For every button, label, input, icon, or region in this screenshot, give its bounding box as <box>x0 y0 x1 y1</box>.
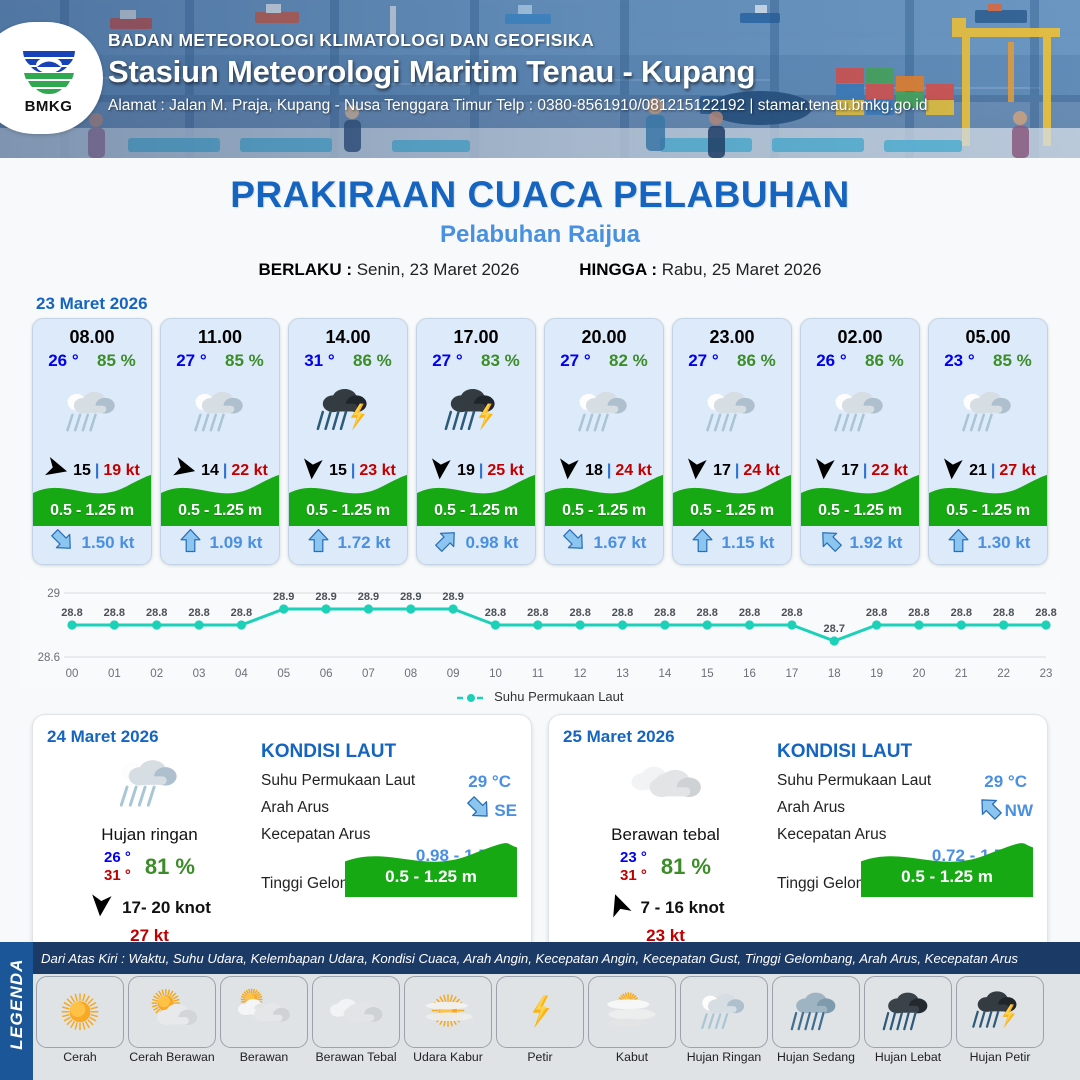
card-temp-hum: 27 °85 % <box>161 351 279 371</box>
current-direction-arrow-icon <box>178 528 203 553</box>
chart-xtick: 08 <box>404 668 417 680</box>
station-name: Stasiun Meteorologi Maritim Tenau - Kupa… <box>108 54 927 90</box>
card-current-row: 1.09 kt <box>161 528 279 558</box>
card-temp-hum: 26 °85 % <box>33 351 151 371</box>
daily-wind-arrow-slot <box>88 892 114 923</box>
legend-icon-box <box>496 976 584 1048</box>
daily-wind-speed: 17- 20 knot <box>122 898 211 918</box>
sst-point-label: 28.7 <box>824 623 845 635</box>
moderate-rain-icon <box>785 987 847 1038</box>
sst-point-label: 28.8 <box>993 607 1014 619</box>
fog-icon <box>601 987 663 1038</box>
card-time: 05.00 <box>929 327 1047 348</box>
card-humidity: 86 % <box>737 351 776 371</box>
agency-name: BADAN METEOROLOGI KLIMATOLOGI DAN GEOFIS… <box>108 30 927 51</box>
daily-wind-row: 7 - 16 knot <box>563 892 768 923</box>
daily-current-arrow-slot <box>466 795 492 826</box>
title-block: PRAKIRAAN CUACA PELABUHAN Pelabuhan Raij… <box>0 174 1080 280</box>
legend-item: Cerah <box>36 976 124 1064</box>
cloudy-icon <box>233 987 295 1038</box>
daily-forecast-panels: 24 Maret 2026Hujan ringan26 °31 °81 %17-… <box>0 704 1080 959</box>
chart-xtick: 21 <box>955 668 968 680</box>
daily-temp-min: 26 ° <box>104 849 131 866</box>
legend-note: Dari Atas Kiri : Waktu, Suhu Udara, Kele… <box>41 951 1018 966</box>
sst-point <box>67 620 76 629</box>
legend-icon-box <box>404 976 492 1048</box>
sst-point <box>787 620 796 629</box>
sst-point-label: 28.8 <box>104 607 125 619</box>
sst-point <box>830 636 839 645</box>
card-current-speed: 1.15 kt <box>722 533 775 553</box>
sst-chart: 2928.628.80028.80128.80228.80328.80428.9… <box>20 579 1060 687</box>
card-current-row: 0.98 kt <box>417 528 535 558</box>
chart-xtick: 07 <box>362 668 375 680</box>
light-rain-icon <box>693 987 755 1038</box>
chart-xtick: 22 <box>997 668 1010 680</box>
hourly-card[interactable]: 14.0031 °86 %15|23 kt0.5 - 1.25 m1.72 kt <box>288 318 408 565</box>
hourly-card[interactable]: 02.0026 °86 %17|22 kt0.5 - 1.25 m1.92 kt <box>800 318 920 565</box>
card-current-arrow-slot <box>306 528 331 558</box>
sst-point-label: 28.8 <box>188 607 209 619</box>
sst-point <box>999 620 1008 629</box>
chart-xtick: 12 <box>574 668 587 680</box>
daily-left-column: Berawan tebal23 °31 °81 %7 - 16 knot23 k… <box>563 751 768 946</box>
sst-point <box>914 620 923 629</box>
sst-point <box>194 620 203 629</box>
light-rain-icon <box>569 384 639 441</box>
sst-point-label: 28.8 <box>951 607 972 619</box>
daily-current-arrow-slot <box>977 795 1003 826</box>
legend-icon-box <box>588 976 676 1048</box>
card-time: 14.00 <box>289 327 407 348</box>
card-humidity: 86 % <box>865 351 904 371</box>
chart-xtick: 20 <box>913 668 926 680</box>
light-rain-icon <box>57 384 127 441</box>
station-address: Alamat : Jalan M. Praja, Kupang - Nusa T… <box>108 97 927 115</box>
card-weather-icon-slot <box>545 374 663 452</box>
sst-chart-svg: 2928.628.80028.80128.80228.80328.80428.9… <box>20 579 1060 687</box>
daily-wind-speed: 7 - 16 knot <box>640 898 724 918</box>
card-temperature: 26 ° <box>816 351 846 371</box>
legend-item: Kabut <box>588 976 676 1064</box>
chart-xtick: 14 <box>658 668 671 680</box>
wave-height-row: Tinggi Gelombang0.5 - 1.25 m <box>777 875 1033 893</box>
hourly-card[interactable]: 17.0027 °83 %19|25 kt0.5 - 1.25 m0.98 kt <box>416 318 536 565</box>
legend-item-label: Berawan <box>220 1050 308 1064</box>
weather-infographic: BMKG BADAN METEOROLOGI KLIMATOLOGI DAN G… <box>0 0 1080 1080</box>
sea-conditions-title: KONDISI LAUT <box>261 741 517 763</box>
legend-item: Hujan Lebat <box>864 976 952 1064</box>
daily-wind-arrow-slot <box>606 892 632 923</box>
wind-direction-arrow-icon <box>606 892 632 918</box>
sea-conditions-title: KONDISI LAUT <box>777 741 1033 763</box>
current-direction-arrow-icon <box>434 528 459 553</box>
card-time: 08.00 <box>33 327 151 348</box>
sst-point-label: 28.8 <box>866 607 887 619</box>
legend-icon-box <box>36 976 124 1048</box>
card-wave-height: 0.5 - 1.25 m <box>417 502 535 520</box>
daily-weather-icon-slot <box>47 751 252 823</box>
daily-left-column: Hujan ringan26 °31 °81 %17- 20 knot27 kt <box>47 751 252 946</box>
card-wave-height: 0.5 - 1.25 m <box>33 502 151 520</box>
card-weather-icon-slot <box>161 374 279 452</box>
card-weather-icon-slot <box>673 374 791 452</box>
sst-point <box>660 620 669 629</box>
daily-panel: 25 Maret 2026Berawan tebal23 °31 °81 %7 … <box>548 714 1048 959</box>
legend-icon-box <box>312 976 400 1048</box>
sst-point <box>406 604 415 613</box>
card-humidity: 86 % <box>353 351 392 371</box>
sunny-icon <box>49 987 111 1038</box>
card-current-row: 1.67 kt <box>545 528 663 558</box>
current-direction-arrow-icon <box>50 528 75 553</box>
card-temperature: 31 ° <box>304 351 334 371</box>
legend-icon-box <box>772 976 860 1048</box>
valid-to: HINGGA : Rabu, 25 Maret 2026 <box>579 260 821 280</box>
daily-wave-height-value: 0.5 - 1.25 m <box>861 867 1033 887</box>
card-current-arrow-slot <box>690 528 715 558</box>
card-time: 20.00 <box>545 327 663 348</box>
card-temp-hum: 31 °86 % <box>289 351 407 371</box>
hourly-card[interactable]: 05.0023 °85 %21|27 kt0.5 - 1.25 m1.30 kt <box>928 318 1048 565</box>
card-temp-hum: 26 °86 % <box>801 351 919 371</box>
thunderstorm-rain-icon <box>313 384 383 441</box>
sst-row: Suhu Permukaan Laut29 °C <box>261 772 517 790</box>
card-current-row: 1.72 kt <box>289 528 407 558</box>
card-temp-hum: 23 °85 % <box>929 351 1047 371</box>
chart-legend-label: Suhu Permukaan Laut <box>494 689 623 704</box>
sst-point <box>279 604 288 613</box>
current-direction-row: Arah ArusNW <box>777 799 1033 817</box>
sst-point-label: 28.8 <box>654 607 675 619</box>
legend-icon-row: CerahCerah BerawanBerawanBerawan TebalUd… <box>36 976 1076 1064</box>
chart-xtick: 00 <box>66 668 79 680</box>
legend-item: Hujan Sedang <box>772 976 860 1064</box>
wave-height-row: Tinggi Gelombang0.5 - 1.25 m <box>261 875 517 893</box>
current-direction-row: Arah ArusSE <box>261 799 517 817</box>
chart-xtick: 04 <box>235 668 248 680</box>
card-current-arrow-slot <box>434 528 459 558</box>
card-current-speed: 1.72 kt <box>338 533 391 553</box>
chart-xtick: 16 <box>743 668 756 680</box>
card-temperature: 27 ° <box>688 351 718 371</box>
daily-humidity: 81 % <box>145 854 195 880</box>
sst-value: 29 °C <box>468 772 511 792</box>
legend-item-label: Hujan Petir <box>956 1050 1044 1064</box>
card-current-row: 1.15 kt <box>673 528 791 558</box>
sst-point <box>957 620 966 629</box>
card-temp-hum: 27 °83 % <box>417 351 535 371</box>
legenda-label: LEGENDA <box>7 949 27 1059</box>
card-weather-icon-slot <box>417 374 535 452</box>
sst-point-label: 28.9 <box>442 591 463 603</box>
legenda-sidebar: LEGENDA <box>0 942 33 1080</box>
card-current-arrow-slot <box>818 528 843 558</box>
legend-item: Hujan Ringan <box>680 976 768 1064</box>
thunderstorm-rain-icon <box>441 384 511 441</box>
daily-sea-conditions: KONDISI LAUTSuhu Permukaan Laut29 °CArah… <box>777 741 1033 893</box>
daily-panel: 24 Maret 2026Hujan ringan26 °31 °81 %17-… <box>32 714 532 959</box>
wind-direction-arrow-icon <box>88 892 114 918</box>
current-direction-value-group: NW <box>977 795 1033 826</box>
overcast-icon <box>325 987 387 1038</box>
sst-point <box>872 620 881 629</box>
legend-item-label: Cerah <box>36 1050 124 1064</box>
light-rain-icon <box>109 751 191 818</box>
haze-icon <box>417 987 479 1038</box>
valid-from: BERLAKU : Senin, 23 Maret 2026 <box>258 260 519 280</box>
chart-xtick: 10 <box>489 668 502 680</box>
sst-point-label: 28.9 <box>400 591 421 603</box>
sst-row: Suhu Permukaan Laut29 °C <box>777 772 1033 790</box>
card-temperature: 23 ° <box>944 351 974 371</box>
legend-icon-box <box>220 976 308 1048</box>
card-current-speed: 1.92 kt <box>850 533 903 553</box>
sst-point-label: 28.8 <box>61 607 82 619</box>
partly-cloudy-icon <box>141 987 203 1038</box>
bmkg-logo-icon <box>17 41 81 97</box>
legend-item-label: Petir <box>496 1050 584 1064</box>
legend-item-label: Udara Kabur <box>404 1050 492 1064</box>
sst-point-label: 28.9 <box>358 591 379 603</box>
sst-point-label: 28.8 <box>485 607 506 619</box>
card-weather-icon-slot <box>289 374 407 452</box>
lightning-icon <box>509 987 571 1038</box>
daily-condition: Hujan ringan <box>47 825 252 845</box>
daily-temp-column: 23 °31 ° <box>620 849 647 884</box>
hourly-forecast-row: 08.0026 °85 %15|19 kt0.5 - 1.25 m1.50 kt… <box>0 318 1080 565</box>
chart-xtick: 15 <box>701 668 714 680</box>
valid-to-label: HINGGA : <box>579 260 657 279</box>
light-rain-icon <box>825 384 895 441</box>
card-current-arrow-slot <box>562 528 587 558</box>
card-current-arrow-slot <box>50 528 75 558</box>
legend-icon-box <box>128 976 216 1048</box>
current-direction-arrow-icon <box>818 528 843 553</box>
current-direction-label: Arah Arus <box>261 799 329 816</box>
card-temp-hum: 27 °82 % <box>545 351 663 371</box>
card-temp-hum: 27 °86 % <box>673 351 791 371</box>
sst-point <box>321 604 330 613</box>
sst-point-label: 28.8 <box>569 607 590 619</box>
hourly-card[interactable]: 20.0027 °82 %18|24 kt0.5 - 1.25 m1.67 kt <box>544 318 664 565</box>
card-wave-height: 0.5 - 1.25 m <box>289 502 407 520</box>
daily-temp-min: 23 ° <box>620 849 647 866</box>
sst-point-label: 28.8 <box>781 607 802 619</box>
legend-item: Berawan <box>220 976 308 1064</box>
legend-item-label: Cerah Berawan <box>128 1050 216 1064</box>
card-weather-icon-slot <box>33 374 151 452</box>
chart-xtick: 02 <box>150 668 163 680</box>
card-wave-height: 0.5 - 1.25 m <box>161 502 279 520</box>
current-direction-label: Arah Arus <box>777 799 845 816</box>
card-current-speed: 1.50 kt <box>82 533 135 553</box>
current-direction-value: NW <box>1005 801 1033 821</box>
card-time: 23.00 <box>673 327 791 348</box>
light-rain-icon <box>697 384 767 441</box>
chart-xtick: 09 <box>447 668 460 680</box>
chart-xtick: 17 <box>786 668 799 680</box>
header-text-block: BADAN METEOROLOGI KLIMATOLOGI DAN GEOFIS… <box>108 30 927 115</box>
current-direction-arrow-icon <box>466 795 492 821</box>
legend-item: Hujan Petir <box>956 976 1044 1064</box>
current-direction-value-group: SE <box>466 795 517 826</box>
sst-point-label: 28.8 <box>1035 607 1056 619</box>
chart-ytick: 29 <box>47 588 60 600</box>
legend-item-label: Hujan Lebat <box>864 1050 952 1064</box>
sst-point <box>449 604 458 613</box>
page-title: PRAKIRAAN CUACA PELABUHAN <box>0 174 1080 216</box>
daily-temp-hum: 23 °31 °81 % <box>563 849 768 884</box>
sst-label: Suhu Permukaan Laut <box>777 772 931 789</box>
sst-point-label: 28.8 <box>697 607 718 619</box>
card-weather-icon-slot <box>801 374 919 452</box>
card-temperature: 27 ° <box>560 351 590 371</box>
chart-xtick: 05 <box>277 668 290 680</box>
card-wave-height: 0.5 - 1.25 m <box>545 502 663 520</box>
card-wave-height: 0.5 - 1.25 m <box>801 502 919 520</box>
card-humidity: 83 % <box>481 351 520 371</box>
chart-xtick: 23 <box>1040 668 1053 680</box>
sst-point <box>745 620 754 629</box>
sst-point-label: 28.9 <box>315 591 336 603</box>
chart-xtick: 03 <box>193 668 206 680</box>
card-humidity: 82 % <box>609 351 648 371</box>
sst-point <box>237 620 246 629</box>
sst-point-label: 28.8 <box>527 607 548 619</box>
current-direction-arrow-icon <box>562 528 587 553</box>
card-temperature: 26 ° <box>48 351 78 371</box>
chart-xtick: 11 <box>532 668 544 680</box>
legend-icon-box <box>864 976 952 1048</box>
heavy-rain-icon <box>877 987 939 1038</box>
sst-point <box>152 620 161 629</box>
daily-sea-conditions: KONDISI LAUTSuhu Permukaan Laut29 °CArah… <box>261 741 517 893</box>
chart-xtick: 13 <box>616 668 629 680</box>
card-current-speed: 0.98 kt <box>466 533 519 553</box>
sst-point <box>703 620 712 629</box>
daily-wave-height-value: 0.5 - 1.25 m <box>345 867 517 887</box>
card-temperature: 27 ° <box>432 351 462 371</box>
chart-xtick: 19 <box>870 668 883 680</box>
card-time: 11.00 <box>161 327 279 348</box>
daily-temp-column: 26 °31 ° <box>104 849 131 884</box>
daily-temp-max: 31 ° <box>104 867 131 884</box>
light-rain-icon <box>953 384 1023 441</box>
card-current-arrow-slot <box>178 528 203 558</box>
card-humidity: 85 % <box>993 351 1032 371</box>
card-temperature: 27 ° <box>176 351 206 371</box>
legend-footer: LEGENDA Dari Atas Kiri : Waktu, Suhu Uda… <box>0 942 1080 1080</box>
sst-point-label: 28.8 <box>231 607 252 619</box>
chart-legend: Suhu Permukaan Laut <box>0 689 1080 704</box>
card-humidity: 85 % <box>225 351 264 371</box>
valid-from-value: Senin, 23 Maret 2026 <box>357 260 520 279</box>
current-direction-arrow-icon <box>690 528 715 553</box>
sst-point <box>364 604 373 613</box>
hourly-card[interactable]: 11.0027 °85 %14|22 kt0.5 - 1.25 m1.09 kt <box>160 318 280 565</box>
hourly-date-label: 23 Maret 2026 <box>36 294 1080 314</box>
chart-xtick: 06 <box>320 668 333 680</box>
chart-xtick: 18 <box>828 668 841 680</box>
legend-item-label: Hujan Ringan <box>680 1050 768 1064</box>
chart-xtick: 01 <box>108 668 121 680</box>
sst-point <box>618 620 627 629</box>
sst-point <box>576 620 585 629</box>
sst-point <box>1041 620 1050 629</box>
legend-item: Berawan Tebal <box>312 976 400 1064</box>
card-wave-height: 0.5 - 1.25 m <box>929 502 1047 520</box>
legend-item-label: Kabut <box>588 1050 676 1064</box>
sst-point-label: 28.9 <box>273 591 294 603</box>
valid-from-label: BERLAKU : <box>258 260 352 279</box>
card-time: 02.00 <box>801 327 919 348</box>
card-current-speed: 1.09 kt <box>210 533 263 553</box>
sst-point <box>110 620 119 629</box>
sst-point-label: 28.8 <box>612 607 633 619</box>
card-weather-icon-slot <box>929 374 1047 452</box>
page-subtitle: Pelabuhan Raijua <box>0 221 1080 249</box>
daily-temp-max: 31 ° <box>620 867 647 884</box>
legend-marker-icon <box>457 693 485 703</box>
hourly-card[interactable]: 23.0027 °86 %17|24 kt0.5 - 1.25 m1.15 kt <box>672 318 792 565</box>
daily-temp-hum: 26 °31 °81 % <box>47 849 252 884</box>
sst-point-label: 28.8 <box>146 607 167 619</box>
sst-point-label: 28.8 <box>908 607 929 619</box>
sst-point <box>491 620 500 629</box>
current-direction-arrow-icon <box>306 528 331 553</box>
sst-point-label: 28.8 <box>739 607 760 619</box>
card-current-arrow-slot <box>946 528 971 558</box>
daily-weather-icon-slot <box>563 751 768 823</box>
legend-item-label: Hujan Sedang <box>772 1050 860 1064</box>
legend-icon-box <box>956 976 1044 1048</box>
legend-icon-box <box>680 976 768 1048</box>
overcast-icon <box>625 751 707 818</box>
sst-label: Suhu Permukaan Laut <box>261 772 415 789</box>
daily-wind-row: 17- 20 knot <box>47 892 252 923</box>
chart-ytick: 28.6 <box>38 652 60 664</box>
current-direction-value: SE <box>494 801 517 821</box>
legend-item: Cerah Berawan <box>128 976 216 1064</box>
valid-to-value: Rabu, 25 Maret 2026 <box>662 260 822 279</box>
legend-item-label: Berawan Tebal <box>312 1050 400 1064</box>
hourly-card[interactable]: 08.0026 °85 %15|19 kt0.5 - 1.25 m1.50 kt <box>32 318 152 565</box>
light-rain-icon <box>185 384 255 441</box>
legend-item: Udara Kabur <box>404 976 492 1064</box>
thunderstorm-rain-icon <box>969 987 1031 1038</box>
daily-condition: Berawan tebal <box>563 825 768 845</box>
card-wave-height: 0.5 - 1.25 m <box>673 502 791 520</box>
card-current-row: 1.92 kt <box>801 528 919 558</box>
legend-note-bar: Dari Atas Kiri : Waktu, Suhu Udara, Kele… <box>33 942 1080 974</box>
current-direction-arrow-icon <box>946 528 971 553</box>
header-banner: BMKG BADAN METEOROLOGI KLIMATOLOGI DAN G… <box>0 0 1080 158</box>
daily-humidity: 81 % <box>661 854 711 880</box>
sst-value: 29 °C <box>984 772 1027 792</box>
current-direction-arrow-icon <box>977 795 1003 821</box>
card-current-row: 1.50 kt <box>33 528 151 558</box>
card-current-row: 1.30 kt <box>929 528 1047 558</box>
legend-item: Petir <box>496 976 584 1064</box>
card-time: 17.00 <box>417 327 535 348</box>
card-current-speed: 1.67 kt <box>594 533 647 553</box>
sst-point <box>533 620 542 629</box>
validity-row: BERLAKU : Senin, 23 Maret 2026 HINGGA : … <box>0 260 1080 280</box>
bmkg-logo-text: BMKG <box>25 98 73 115</box>
card-current-speed: 1.30 kt <box>978 533 1031 553</box>
card-humidity: 85 % <box>97 351 136 371</box>
